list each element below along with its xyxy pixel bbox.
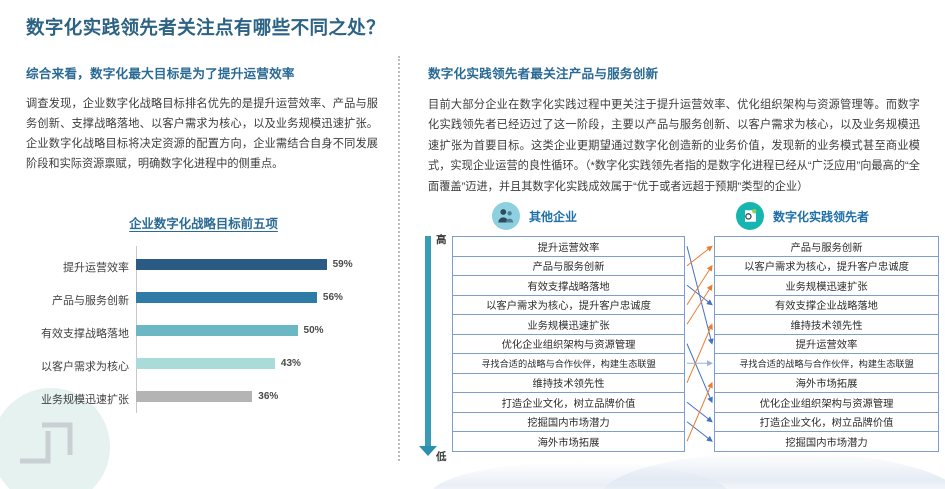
left-subheading: 综合来看，数字化最大目标是为了提升运营效率: [26, 63, 378, 82]
other-enterprise-item[interactable]: 挖掘国内市场潜力: [452, 412, 685, 433]
bar-value-label: 56%: [323, 292, 343, 303]
digital-leader-item[interactable]: 挖掘国内市场潜力: [714, 431, 939, 452]
decorative-arrow-glyph: [12, 415, 92, 477]
transition-arrow: [687, 344, 712, 403]
other-enterprise-item[interactable]: 提升运营效率: [452, 236, 685, 257]
bar-rect: [136, 391, 252, 402]
digital-leader-item[interactable]: 寻找合适的战略与合作伙伴，构建生态联盟: [714, 353, 939, 374]
axis-label-low: 低: [436, 449, 447, 464]
bar-category-label: 以客户需求为核心: [26, 358, 129, 374]
bar-value-label: 36%: [258, 391, 278, 402]
right-subheading: 数字化实践领先者最关注产品与服务创新: [428, 63, 920, 82]
bar-rect: [136, 325, 298, 336]
bar-value-label: 50%: [304, 325, 324, 336]
bar-row: 以客户需求为核心43%: [136, 347, 381, 379]
other-enterprises-list: 提升运营效率产品与服务创新有效支撑战略落地以客户需求为核心，提升客户忠诚度业务规…: [452, 236, 685, 452]
bar-category-label: 产品与服务创新: [26, 292, 129, 308]
digital-leader-item[interactable]: 有效支撑企业战略落地: [714, 295, 939, 316]
chart-title: 企业数字化战略目标前五项: [26, 214, 381, 232]
bar-value-label: 43%: [281, 358, 301, 369]
left-column-header: 其他企业: [492, 202, 577, 230]
transition-arrow: [687, 383, 712, 442]
transition-arrow: [687, 285, 712, 324]
other-enterprise-item[interactable]: 优化企业组织架构与资源管理: [452, 334, 685, 355]
transition-arrow: [687, 402, 712, 422]
bar-rect: [136, 358, 275, 369]
right-text-column: 数字化实践领先者最关注产品与服务创新 目前大部分企业在数字化实践过程中更关注于提…: [428, 63, 920, 197]
chart-bars: 提升运营效率59%产品与服务创新56%有效支撑战略落地50%以客户需求为核心43…: [136, 248, 381, 412]
digital-leader-item[interactable]: 维持技术领先性: [714, 314, 939, 335]
other-enterprise-item[interactable]: 打造企业文化，树立品牌价值: [452, 392, 685, 413]
digital-leader-item[interactable]: 打造企业文化，树立品牌价值: [714, 412, 939, 433]
priority-axis-bar: [425, 236, 431, 448]
transition-arrow: [687, 324, 712, 383]
people-icon: [492, 202, 520, 230]
digital-leader-item[interactable]: 海外市场拓展: [714, 373, 939, 394]
digital-leaders-list: 产品与服务创新以客户需求为核心，提升客户忠诚度业务规模迅速扩张有效支撑企业战略落…: [714, 236, 939, 452]
other-enterprise-item[interactable]: 有效支撑战略落地: [452, 275, 685, 296]
chart-plot-area: 提升运营效率59%产品与服务创新56%有效支撑战略落地50%以客户需求为核心43…: [26, 248, 381, 412]
slide-canvas: 数字化实践领先者关注点有哪些不同之处？ 综合来看，数字化最大目标是为了提升运营效…: [0, 0, 945, 489]
transition-arrow: [687, 266, 712, 305]
digital-leader-item[interactable]: 产品与服务创新: [714, 236, 939, 257]
axis-label-high: 高: [436, 232, 447, 247]
bar-row: 提升运营效率59%: [136, 248, 381, 280]
bar-rect: [136, 259, 327, 270]
bar-chart: 企业数字化战略目标前五项 提升运营效率59%产品与服务创新56%有效支撑战略落地…: [26, 214, 381, 424]
priority-axis-arrowhead: [419, 446, 437, 456]
right-paragraph: 目前大部分企业在数字化实践过程中更关注于提升运营效率、优化组织架构与资源管理等。…: [428, 95, 920, 197]
left-paragraph: 调查发现，企业数字化战略目标排名优先的是提升运营效率、产品与服务创新、支撑战略落…: [26, 95, 378, 175]
transition-arrow: [687, 246, 712, 344]
transition-arrow: [687, 246, 712, 266]
transition-arrow: [687, 422, 712, 442]
other-enterprise-item[interactable]: 以客户需求为核心，提升客户忠诚度: [452, 295, 685, 316]
bar-rect: [136, 292, 317, 303]
bar-value-label: 59%: [333, 259, 353, 270]
other-enterprise-item[interactable]: 业务规模迅速扩张: [452, 314, 685, 335]
digital-leader-item[interactable]: 优化企业组织架构与资源管理: [714, 392, 939, 413]
column-divider: [398, 56, 400, 461]
other-enterprise-item[interactable]: 产品与服务创新: [452, 256, 685, 277]
page-title: 数字化实践领先者关注点有哪些不同之处？: [26, 14, 385, 40]
bar-category-label: 提升运营效率: [26, 259, 129, 275]
bar-category-label: 有效支撑战略落地: [26, 325, 129, 341]
digital-leader-item[interactable]: 提升运营效率: [714, 334, 939, 355]
other-enterprise-item[interactable]: 海外市场拓展: [452, 431, 685, 452]
digital-leader-item[interactable]: 以客户需求为核心，提升客户忠诚度: [714, 256, 939, 277]
other-enterprise-item[interactable]: 寻找合适的战略与合作伙伴，构建生态联盟: [452, 353, 685, 374]
left-text-column: 综合来看，数字化最大目标是为了提升运营效率 调查发现，企业数字化战略目标排名优先…: [26, 63, 378, 175]
comparison-diagram: 高 低 其他企业 数字化实践领: [414, 200, 939, 485]
left-column-header-label: 其他企业: [529, 208, 577, 225]
bar-category-label: 业务规模迅速扩张: [26, 391, 129, 407]
other-enterprise-item[interactable]: 维持技术领先性: [452, 373, 685, 394]
transition-arrow: [687, 285, 712, 305]
right-column-header-label: 数字化实践领先者: [773, 208, 869, 225]
bar-row: 产品与服务创新56%: [136, 281, 381, 313]
bar-row: 业务规模迅速扩张36%: [136, 380, 381, 412]
digital-leader-item[interactable]: 业务规模迅速扩张: [714, 275, 939, 296]
innovation-head-gear-icon: [736, 202, 764, 230]
right-column-header: 数字化实践领先者: [736, 202, 869, 230]
bar-row: 有效支撑战略落地50%: [136, 314, 381, 346]
